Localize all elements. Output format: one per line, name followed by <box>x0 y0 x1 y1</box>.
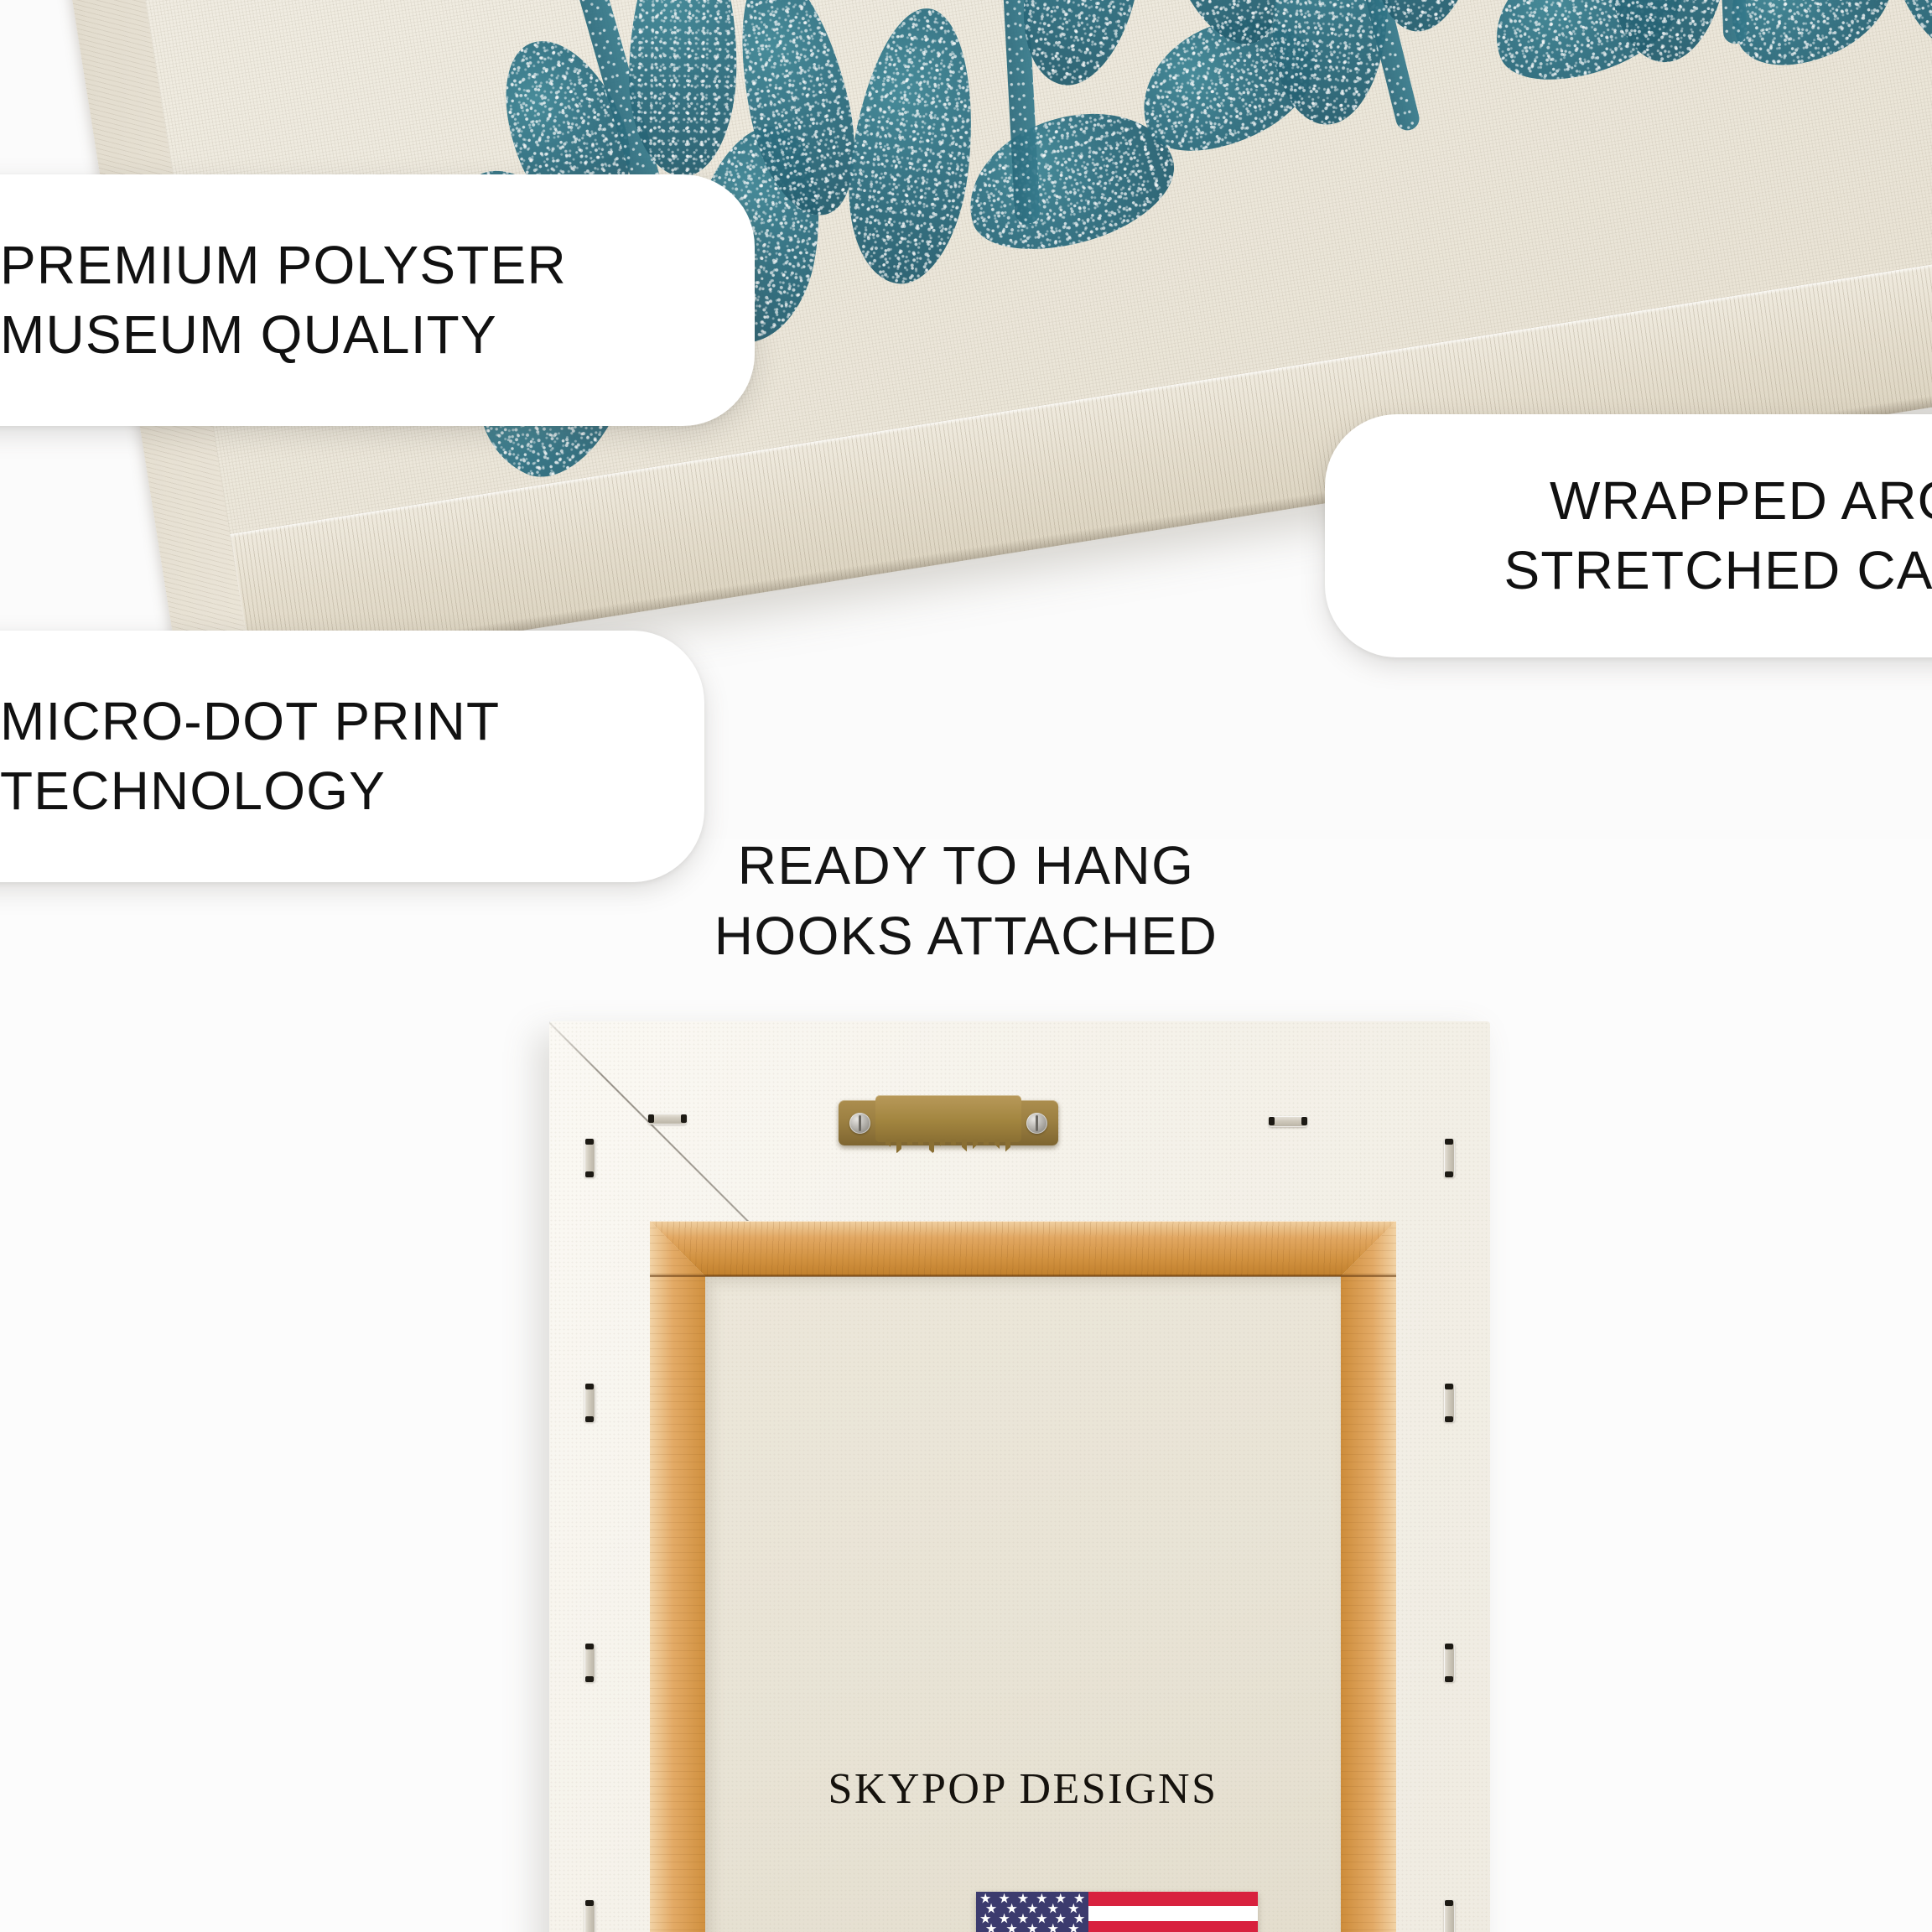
flag-star <box>1017 1914 1028 1924</box>
staple <box>1444 1644 1455 1682</box>
flag-star <box>1027 1903 1038 1914</box>
flag-star <box>1036 1914 1047 1924</box>
flag-canton <box>976 1892 1088 1932</box>
staple <box>1444 1900 1455 1932</box>
flag-star <box>1068 1924 1079 1932</box>
hanger-plate <box>875 1095 1021 1142</box>
mitred-corner-fold <box>549 1021 761 1231</box>
staple <box>1269 1116 1307 1127</box>
flag-star-row <box>976 1914 1088 1924</box>
flag-star <box>1006 1924 1017 1932</box>
hanger-teeth <box>885 1140 1013 1153</box>
badge-line-1: WRAPPED AROUND <box>1550 466 1932 536</box>
canvas-back-surface <box>705 1276 1341 1932</box>
canvas-back-photo: SKYPOP DESIGNS <box>0 964 1932 1932</box>
flag-star <box>1055 1893 1066 1904</box>
flag-star <box>1055 1914 1066 1924</box>
flag-star <box>986 1903 997 1914</box>
staple <box>1444 1139 1455 1177</box>
stretcher-bar-right <box>1341 1221 1396 1932</box>
caption-line-1: READY TO HANG <box>0 830 1932 901</box>
hanger-screw <box>1026 1113 1047 1134</box>
staple <box>584 1384 595 1422</box>
united-states-flag-icon <box>976 1892 1258 1932</box>
badge-line-1: PREMIUM POLYSTER <box>0 231 567 300</box>
badge-line-1: MICRO-DOT PRINT <box>0 687 500 756</box>
badge-line-2: STRETCHED CANVAS <box>1504 536 1932 605</box>
flag-star <box>1047 1903 1058 1914</box>
badge-premium-polyester: PREMIUM POLYSTER MUSEUM QUALITY <box>0 174 755 426</box>
badge-line-2: TECHNOLOGY <box>0 756 386 826</box>
flag-star-row <box>976 1893 1088 1903</box>
flag-star <box>1017 1893 1028 1904</box>
staple <box>1444 1384 1455 1422</box>
flag-star <box>1036 1893 1047 1904</box>
flag-star <box>1074 1914 1085 1924</box>
caption-line-2: HOOKS ATTACHED <box>0 901 1932 971</box>
stretcher-bar-left <box>650 1221 705 1932</box>
infographic-root: PREMIUM POLYSTER MUSEUM QUALITY WRAPPED … <box>0 0 1932 1932</box>
hanger-screw <box>849 1113 870 1134</box>
badge-wrapped-around-stretched-canvas: WRAPPED AROUND STRETCHED CANVAS <box>1325 414 1932 657</box>
flag-star <box>986 1924 997 1932</box>
stretcher-shadow-line <box>650 1275 1396 1277</box>
flag-star-row <box>976 1903 1088 1914</box>
badge-line-2: MUSEUM QUALITY <box>0 300 497 370</box>
stretcher-bar-top <box>650 1221 1396 1276</box>
staple <box>648 1114 687 1124</box>
flag-star <box>999 1914 1010 1924</box>
sawtooth-hanger <box>839 1100 1058 1145</box>
flag-star <box>1047 1924 1058 1932</box>
flag-star <box>1027 1924 1038 1932</box>
flag-star-row <box>976 1924 1088 1932</box>
staple <box>584 1900 595 1932</box>
staple <box>584 1644 595 1682</box>
canvas-back-panel: SKYPOP DESIGNS <box>549 1021 1490 1932</box>
brand-wordmark: SKYPOP DESIGNS <box>650 1764 1396 1814</box>
staple <box>584 1139 595 1177</box>
flag-star <box>1068 1903 1079 1914</box>
wooden-stretcher-frame: SKYPOP DESIGNS <box>650 1221 1396 1932</box>
flag-star <box>1006 1903 1017 1914</box>
flag-star <box>1074 1893 1085 1904</box>
leaf-art <box>837 2 987 291</box>
flag-star <box>980 1914 991 1924</box>
flag-star <box>999 1893 1010 1904</box>
flag-star <box>980 1893 991 1904</box>
caption-ready-to-hang: READY TO HANG HOOKS ATTACHED <box>0 830 1932 972</box>
